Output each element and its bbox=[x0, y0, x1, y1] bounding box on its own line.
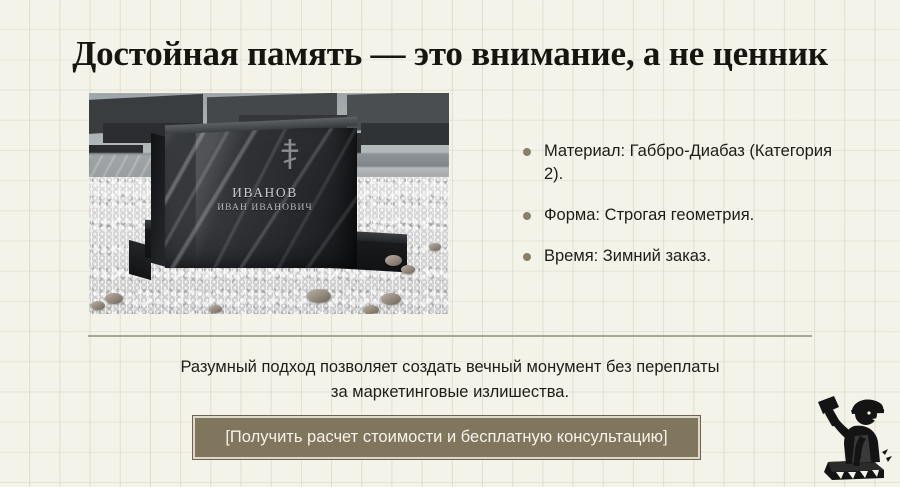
photo-engraved-surname: ИВАНОВ bbox=[185, 185, 345, 201]
list-item: Материал: Габбро-Диабаз (Категория 2). bbox=[518, 140, 848, 186]
slide-canvas: Достойная память — это внимание, а не це… bbox=[0, 0, 900, 487]
photo-pebble bbox=[307, 289, 331, 303]
list-item-label: Форма: Строгая геометрия. bbox=[544, 206, 754, 224]
monument-photo: ИВАНОВ ИВАН ИВАНОВИЧ bbox=[89, 93, 449, 314]
stonemason-logo bbox=[808, 392, 892, 482]
list-item: Время: Зимний заказ. bbox=[518, 245, 848, 268]
page-title: Достойная память — это внимание, а не це… bbox=[0, 33, 900, 75]
photo-pebble bbox=[429, 243, 441, 251]
get-quote-button[interactable]: [Получить расчет стоимости и бесплатную … bbox=[193, 416, 700, 459]
photo-pebble bbox=[209, 305, 222, 313]
bullet-dot-icon bbox=[523, 212, 531, 220]
summary-caption: Разумный подход позволяет создать вечный… bbox=[110, 355, 790, 405]
photo-pebble bbox=[105, 293, 123, 304]
photo-far-grave-6 bbox=[361, 123, 449, 145]
list-item-label: Время: Зимний заказ. bbox=[544, 247, 711, 265]
photo-engraved-fullname: ИВАН ИВАНОВИЧ bbox=[175, 203, 355, 213]
summary-caption-line-2: за маркетинговые излишества. bbox=[110, 380, 790, 405]
orthodox-cross-icon bbox=[279, 137, 301, 171]
photo-pebble bbox=[381, 293, 401, 305]
spec-bullet-list: Материал: Габбро-Диабаз (Категория 2). Ф… bbox=[518, 140, 848, 268]
list-item: Форма: Строгая геометрия. bbox=[518, 204, 848, 227]
horizontal-divider bbox=[88, 335, 812, 337]
photo-pebble bbox=[363, 305, 379, 314]
photo-pebble bbox=[91, 301, 105, 310]
summary-caption-line-1: Разумный подход позволяет создать вечный… bbox=[110, 355, 790, 380]
bullet-dot-icon bbox=[523, 253, 531, 261]
bullet-dot-icon bbox=[523, 148, 531, 156]
list-item-label: Материал: Габбро-Диабаз (Категория 2). bbox=[544, 142, 832, 183]
photo-pebble bbox=[385, 255, 402, 266]
photo-pebble bbox=[401, 265, 415, 274]
